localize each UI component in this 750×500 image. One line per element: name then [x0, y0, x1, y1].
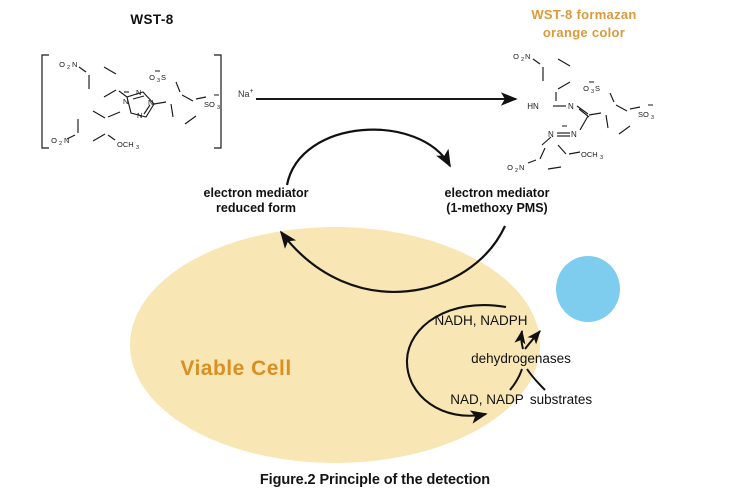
- sodium-charge: +: [250, 88, 254, 95]
- sodium-counterion-label: Na+: [238, 88, 254, 100]
- dehydrogenases-label: dehydrogenases: [471, 351, 571, 367]
- label-layer: WST-8 WST-8 formazan orange color Na+ el…: [0, 0, 750, 500]
- electron-mediator-oxidized-label: electron mediator (1-methoxy PMS): [445, 186, 550, 217]
- wst8-title: WST-8: [130, 12, 173, 28]
- substrates-label: substrates: [530, 392, 592, 408]
- electron-mediator-reduced-label: electron mediator reduced form: [204, 186, 309, 217]
- figure-container: O 2 N O 2 N OCH 3 O 3 S SO 3 N N N N: [0, 0, 750, 500]
- viable-cell-label: Viable Cell: [180, 356, 291, 382]
- nad-nadp-label: NAD, NADP: [450, 392, 524, 408]
- figure-caption: Figure.2 Principle of the detection: [260, 472, 490, 490]
- nadh-nadph-label: NADH, NADPH: [434, 313, 527, 329]
- sodium-symbol: Na: [238, 89, 250, 99]
- formazan-title: WST-8 formazan orange color: [531, 6, 636, 41]
